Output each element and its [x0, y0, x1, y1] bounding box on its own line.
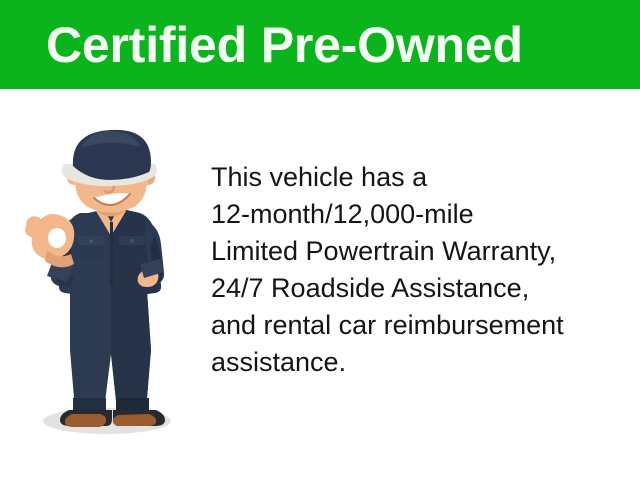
center-seam	[110, 222, 113, 286]
warranty-description: This vehicle has a 12-month/12,000-mile …	[211, 159, 631, 381]
copy-line-2: 12-month/12,000-mile	[211, 196, 631, 233]
chest-pocket-right-button	[130, 239, 133, 242]
copy-line-1: This vehicle has a	[211, 159, 631, 196]
copy-line-4: 24/7 Roadside Assistance,	[211, 270, 631, 307]
copy-line-5: and rental car reimbursement	[211, 307, 631, 344]
mechanic-ok-gesture-illustration	[18, 118, 203, 438]
page-title: Certified Pre-Owned	[46, 14, 606, 76]
trousers-shade	[111, 276, 151, 410]
copy-line-6: assistance.	[211, 344, 631, 381]
ok-gesture-hand	[25, 214, 74, 267]
shoe-right-upper	[113, 414, 156, 426]
certified-pre-owned-card: Certified Pre-Owned	[0, 0, 640, 480]
shoe-left-upper	[65, 414, 106, 427]
header-banner: Certified Pre-Owned	[0, 0, 640, 89]
chest-pocket-left-button	[89, 239, 92, 242]
copy-line-3: Limited Powertrain Warranty,	[211, 233, 631, 270]
trouser-cuff-right	[116, 398, 149, 412]
trouser-cuff-left	[73, 398, 106, 412]
